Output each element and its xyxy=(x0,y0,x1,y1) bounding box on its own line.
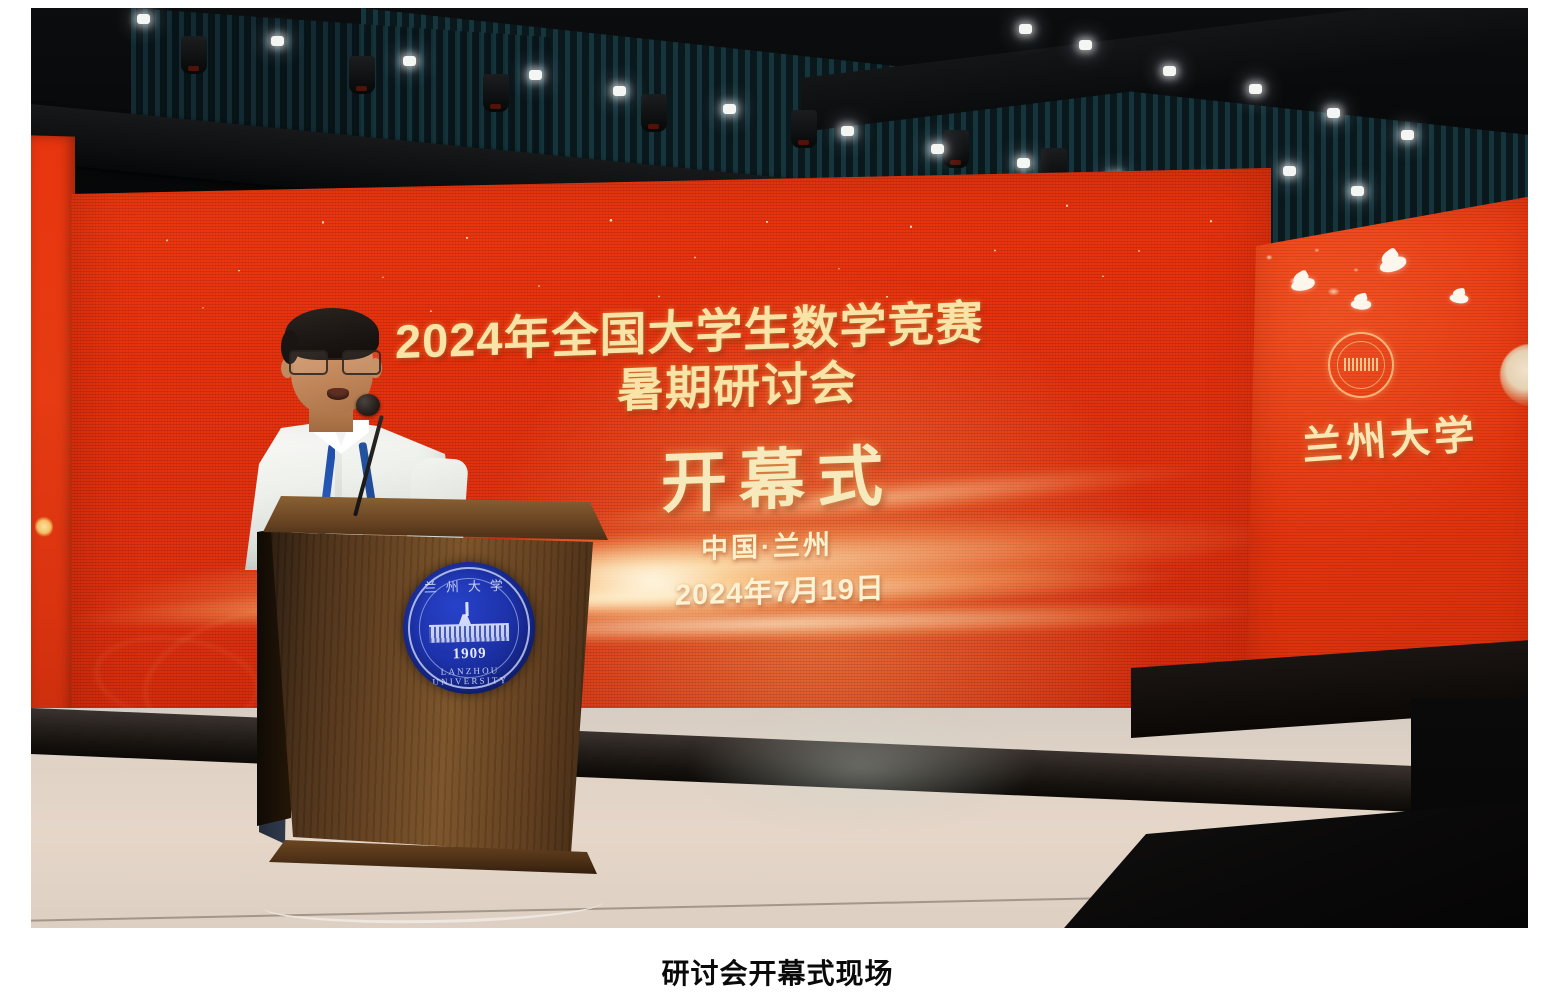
spotlight-lamp xyxy=(1283,166,1296,176)
spotlight-lamp xyxy=(1351,186,1364,196)
event-headline: 开幕式 xyxy=(661,423,895,527)
spotlight-lamp xyxy=(403,56,416,66)
stage-light-fixture xyxy=(791,110,817,148)
glasses-lens xyxy=(289,350,328,375)
spotlight-lamp xyxy=(271,36,284,46)
glasses-lens xyxy=(342,350,381,375)
spotlight-lamp xyxy=(1163,66,1176,76)
spotlight-lamp xyxy=(841,126,854,136)
podium: 兰州大学 1909 LANZHOU UNIVERSITY xyxy=(263,496,608,896)
led-side-panel-left xyxy=(31,135,75,776)
university-seal-icon xyxy=(1328,332,1394,398)
event-location: 中国·兰州 xyxy=(701,523,833,566)
dove-icon xyxy=(1290,277,1315,292)
dove-group xyxy=(1264,252,1524,352)
spotlight-lamp xyxy=(1019,24,1032,34)
glasses-icon xyxy=(287,350,379,372)
spotlight-lamp xyxy=(613,86,626,96)
stage-light-fixture xyxy=(483,74,509,112)
spotlight-lamp xyxy=(1401,130,1414,140)
photo-caption: 研讨会开幕式现场 xyxy=(0,952,1555,992)
spotlight-lamp xyxy=(723,104,736,114)
event-date: 2024年7月19日 xyxy=(675,565,885,614)
speaker-mouth xyxy=(327,388,349,400)
emblem-year: 1909 xyxy=(403,644,535,664)
spotlight-lamp xyxy=(1017,158,1030,168)
dove-icon xyxy=(1378,255,1408,275)
spotlight-lamp xyxy=(529,70,542,80)
floor-light-reflection xyxy=(691,708,1031,828)
emblem-top-text: 兰州大学 xyxy=(402,574,534,596)
stage-light-fixture xyxy=(349,56,375,94)
spotlight-lamp xyxy=(1079,40,1092,50)
stage-light-fixture xyxy=(641,94,667,132)
event-title-line2: 暑期研讨会 xyxy=(617,344,857,421)
dove-icon xyxy=(1449,292,1469,304)
spotlight-lamp xyxy=(137,14,150,24)
emblem-bottom-text: LANZHOU UNIVERSITY xyxy=(404,664,536,687)
microphone-icon xyxy=(356,394,380,416)
university-name: 兰州大学 xyxy=(1300,402,1480,472)
spotlight-lamp xyxy=(931,144,944,154)
stage-photo: 2024年全国大学生数学竞赛 暑期研讨会 开幕式 中国·兰州 2024年7月19… xyxy=(31,8,1528,928)
spotlight-lamp xyxy=(1327,108,1340,118)
stage-light-fixture xyxy=(181,36,207,74)
ornament-icon xyxy=(35,515,53,538)
university-emblem: 兰州大学 1909 LANZHOU UNIVERSITY xyxy=(401,560,536,695)
spotlight-lamp xyxy=(1249,84,1262,94)
dove-icon xyxy=(1350,298,1371,310)
glasses-bridge xyxy=(326,358,342,360)
emblem-building-spire xyxy=(465,602,468,616)
